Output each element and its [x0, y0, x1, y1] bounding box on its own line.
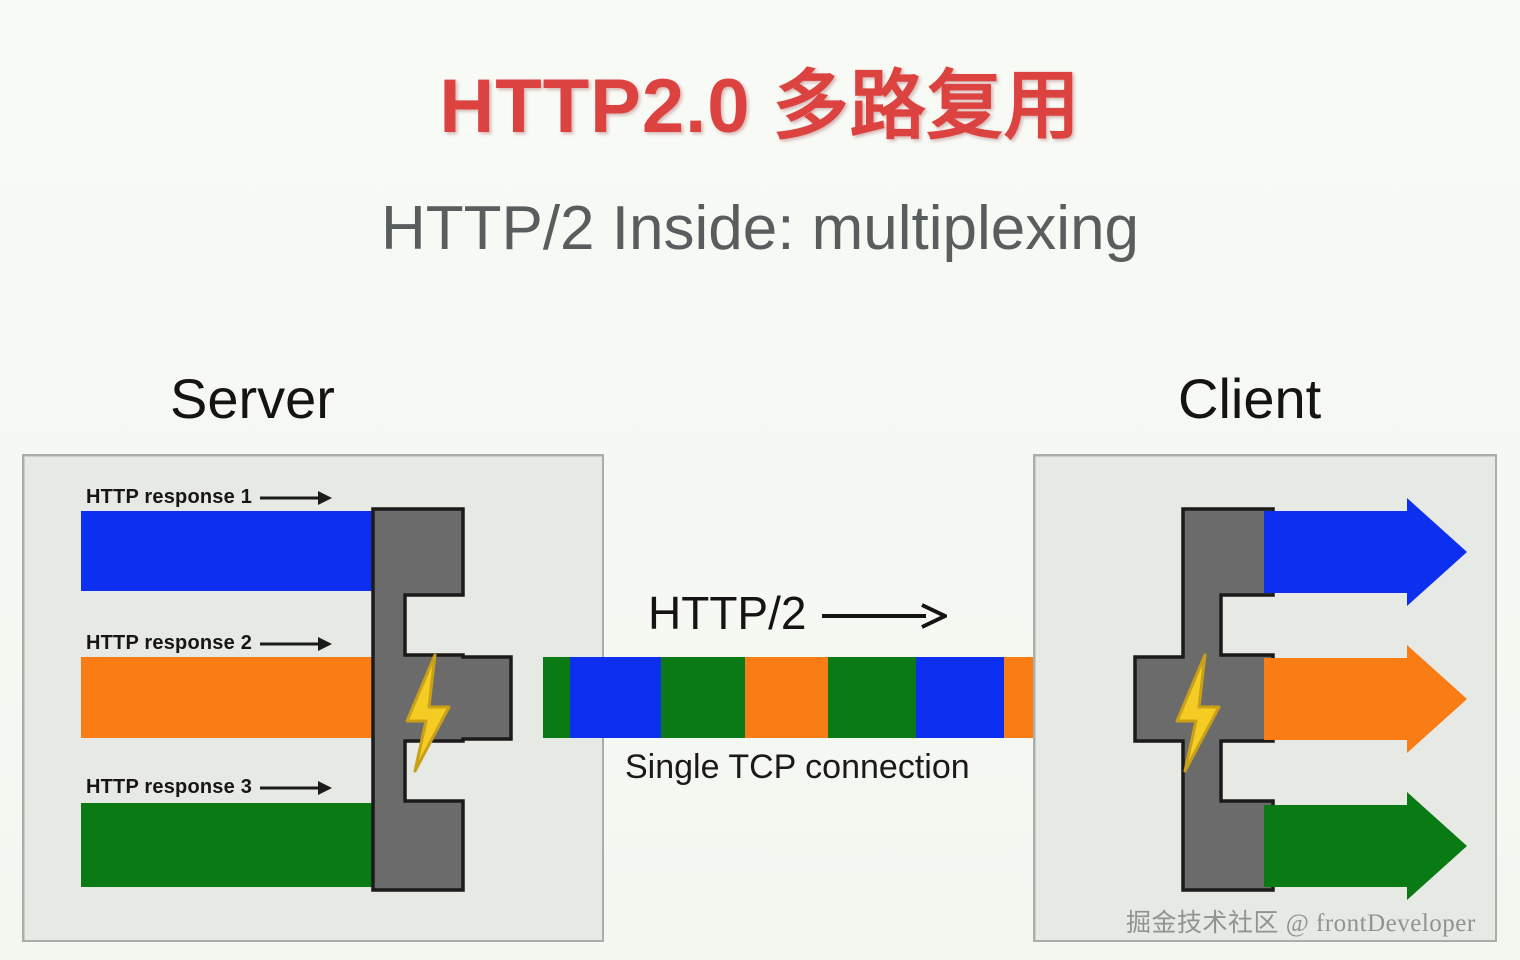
page-title: HTTP2.0 多路复用	[0, 44, 1520, 154]
watermark: 掘金技术社区 @ frontDeveloper	[1126, 903, 1476, 939]
client-demultiplexer-block	[1133, 507, 1275, 892]
client-arrow-green	[1264, 792, 1467, 900]
stream-segment-2	[570, 657, 661, 738]
response-1-label: HTTP response 1	[86, 486, 252, 509]
client-arrow-orange	[1264, 645, 1467, 753]
server-heading: Server	[170, 366, 335, 431]
tcp-connection-label: Single TCP connection	[625, 748, 970, 787]
response-1-caption: HTTP response 1	[86, 486, 332, 509]
response-3-label: HTTP response 3	[86, 776, 252, 799]
response-bar-1	[81, 511, 403, 591]
response-2-label: HTTP response 2	[86, 632, 252, 655]
slide-canvas: HTTP2.0 多路复用 HTTP/2 Inside: multiplexing…	[0, 0, 1520, 960]
server-multiplexer-block	[371, 507, 513, 892]
client-heading: Client	[1178, 366, 1321, 431]
stream-segment-5	[828, 657, 916, 738]
stream-segment-3	[661, 657, 745, 738]
stream-segment-6	[916, 657, 1004, 738]
response-3-caption: HTTP response 3	[86, 776, 332, 799]
protocol-label: HTTP/2	[648, 586, 806, 640]
client-arrow-blue	[1264, 498, 1467, 606]
arrow-right-icon	[260, 780, 332, 796]
arrow-right-icon	[822, 586, 947, 640]
stream-segment-4	[745, 657, 828, 738]
multiplexed-stream	[543, 657, 1092, 738]
stream-segment-1	[543, 657, 570, 738]
arrow-right-icon	[260, 636, 332, 652]
response-2-caption: HTTP response 2	[86, 632, 332, 655]
response-bar-3	[81, 803, 403, 887]
response-bar-2	[81, 657, 403, 738]
arrow-right-icon	[260, 490, 332, 506]
page-subtitle: HTTP/2 Inside: multiplexing	[0, 193, 1520, 264]
protocol-annotation: HTTP/2	[648, 586, 947, 640]
